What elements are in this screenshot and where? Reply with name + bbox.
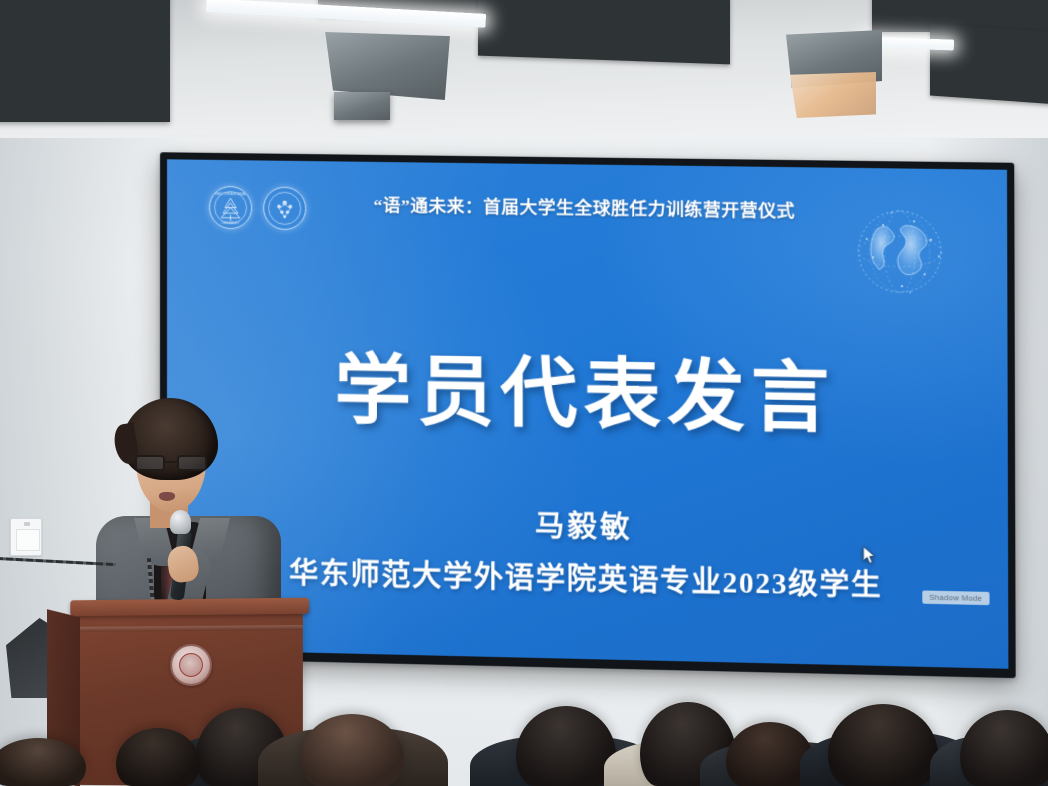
ceiling xyxy=(0,0,1048,150)
podium-top xyxy=(70,598,309,617)
audience-head xyxy=(0,738,86,786)
lecture-hall-scene: EAST CHINA NORMAL UNIVERSITY xyxy=(0,0,1048,786)
projector-mount xyxy=(334,92,390,120)
ceiling-panel xyxy=(0,0,170,122)
wall-socket xyxy=(10,518,42,556)
microphone-head xyxy=(170,510,191,534)
globe-icon xyxy=(842,194,958,309)
ceiling-panel xyxy=(930,23,1048,104)
audience xyxy=(0,660,1048,786)
audience-head xyxy=(960,710,1048,786)
audience-head xyxy=(300,714,404,786)
glasses-bridge xyxy=(165,461,177,463)
audience-head xyxy=(116,728,200,786)
audience-head xyxy=(828,704,938,786)
podium-bevel xyxy=(76,625,303,632)
presenter-mouth xyxy=(159,492,175,501)
watermark-badge: Shadow Mode xyxy=(922,590,990,605)
ceiling-projector xyxy=(320,32,450,100)
glasses-icon xyxy=(134,455,208,471)
audience-head xyxy=(516,706,616,786)
svg-text:UNIVERSITY: UNIVERSITY xyxy=(222,221,240,225)
ceiling-warm-fixture xyxy=(790,72,876,118)
ceiling-panel xyxy=(478,0,730,64)
glasses-lens-right xyxy=(177,455,207,471)
glasses-lens-left xyxy=(135,455,165,471)
